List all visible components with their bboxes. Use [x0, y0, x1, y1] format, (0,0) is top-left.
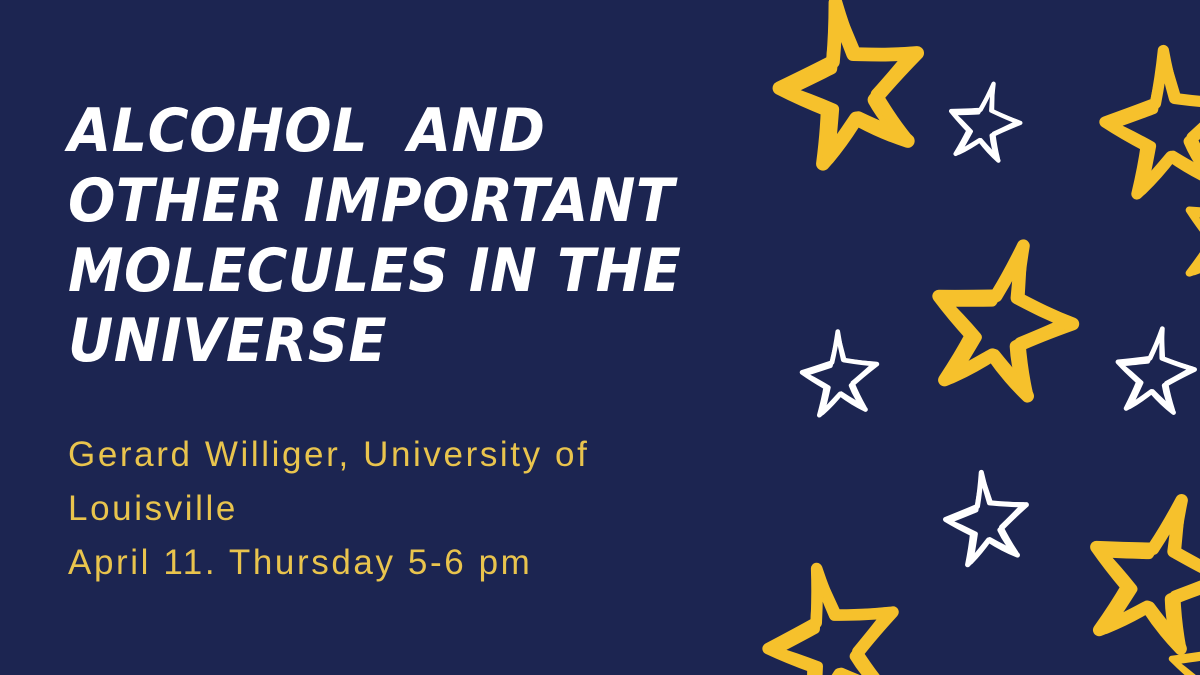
doodle-star-icon	[913, 223, 1103, 413]
subtitle-speaker-line: Gerard Williger, University of	[68, 428, 768, 482]
doodle-star-icon	[1109, 321, 1200, 420]
doodle-star-icon	[794, 324, 891, 421]
doodle-star-icon	[1166, 156, 1200, 304]
subtitle-datetime-line: April 11. Thursday 5-6 pm	[68, 536, 768, 590]
doodle-star-icon	[1162, 608, 1200, 675]
doodle-star-icon	[742, 542, 930, 675]
subtitle-affiliation-line: Louisville	[68, 482, 768, 536]
star-yellow-bottom-right	[1068, 475, 1200, 667]
doodle-star-icon	[753, 0, 954, 178]
star-yellow-mid-center	[913, 223, 1103, 413]
doodle-star-icon	[933, 460, 1044, 571]
star-yellow-upper-right-edge	[1166, 156, 1200, 304]
presentation-slide: ALCOHOL AND OTHER IMPORTANT MOLECULES IN…	[0, 0, 1200, 675]
doodle-star-icon	[1088, 34, 1200, 203]
slide-subtitle-block: Gerard Williger, University of Louisvill…	[68, 376, 768, 590]
star-yellow-bottom-center	[742, 542, 930, 675]
star-white-mid-right	[1109, 321, 1200, 420]
star-white-lower-center	[933, 460, 1044, 571]
star-white-top-center	[940, 74, 1035, 169]
star-yellow-bottom-edge	[1162, 608, 1200, 675]
doodle-star-icon	[1068, 475, 1200, 667]
star-yellow-top-right	[1088, 34, 1200, 203]
star-white-mid-left	[794, 324, 891, 421]
star-yellow-top-left	[753, 0, 954, 178]
doodle-star-icon	[940, 74, 1035, 169]
slide-text-block: ALCOHOL AND OTHER IMPORTANT MOLECULES IN…	[68, 96, 768, 590]
slide-title: ALCOHOL AND OTHER IMPORTANT MOLECULES IN…	[68, 96, 719, 376]
